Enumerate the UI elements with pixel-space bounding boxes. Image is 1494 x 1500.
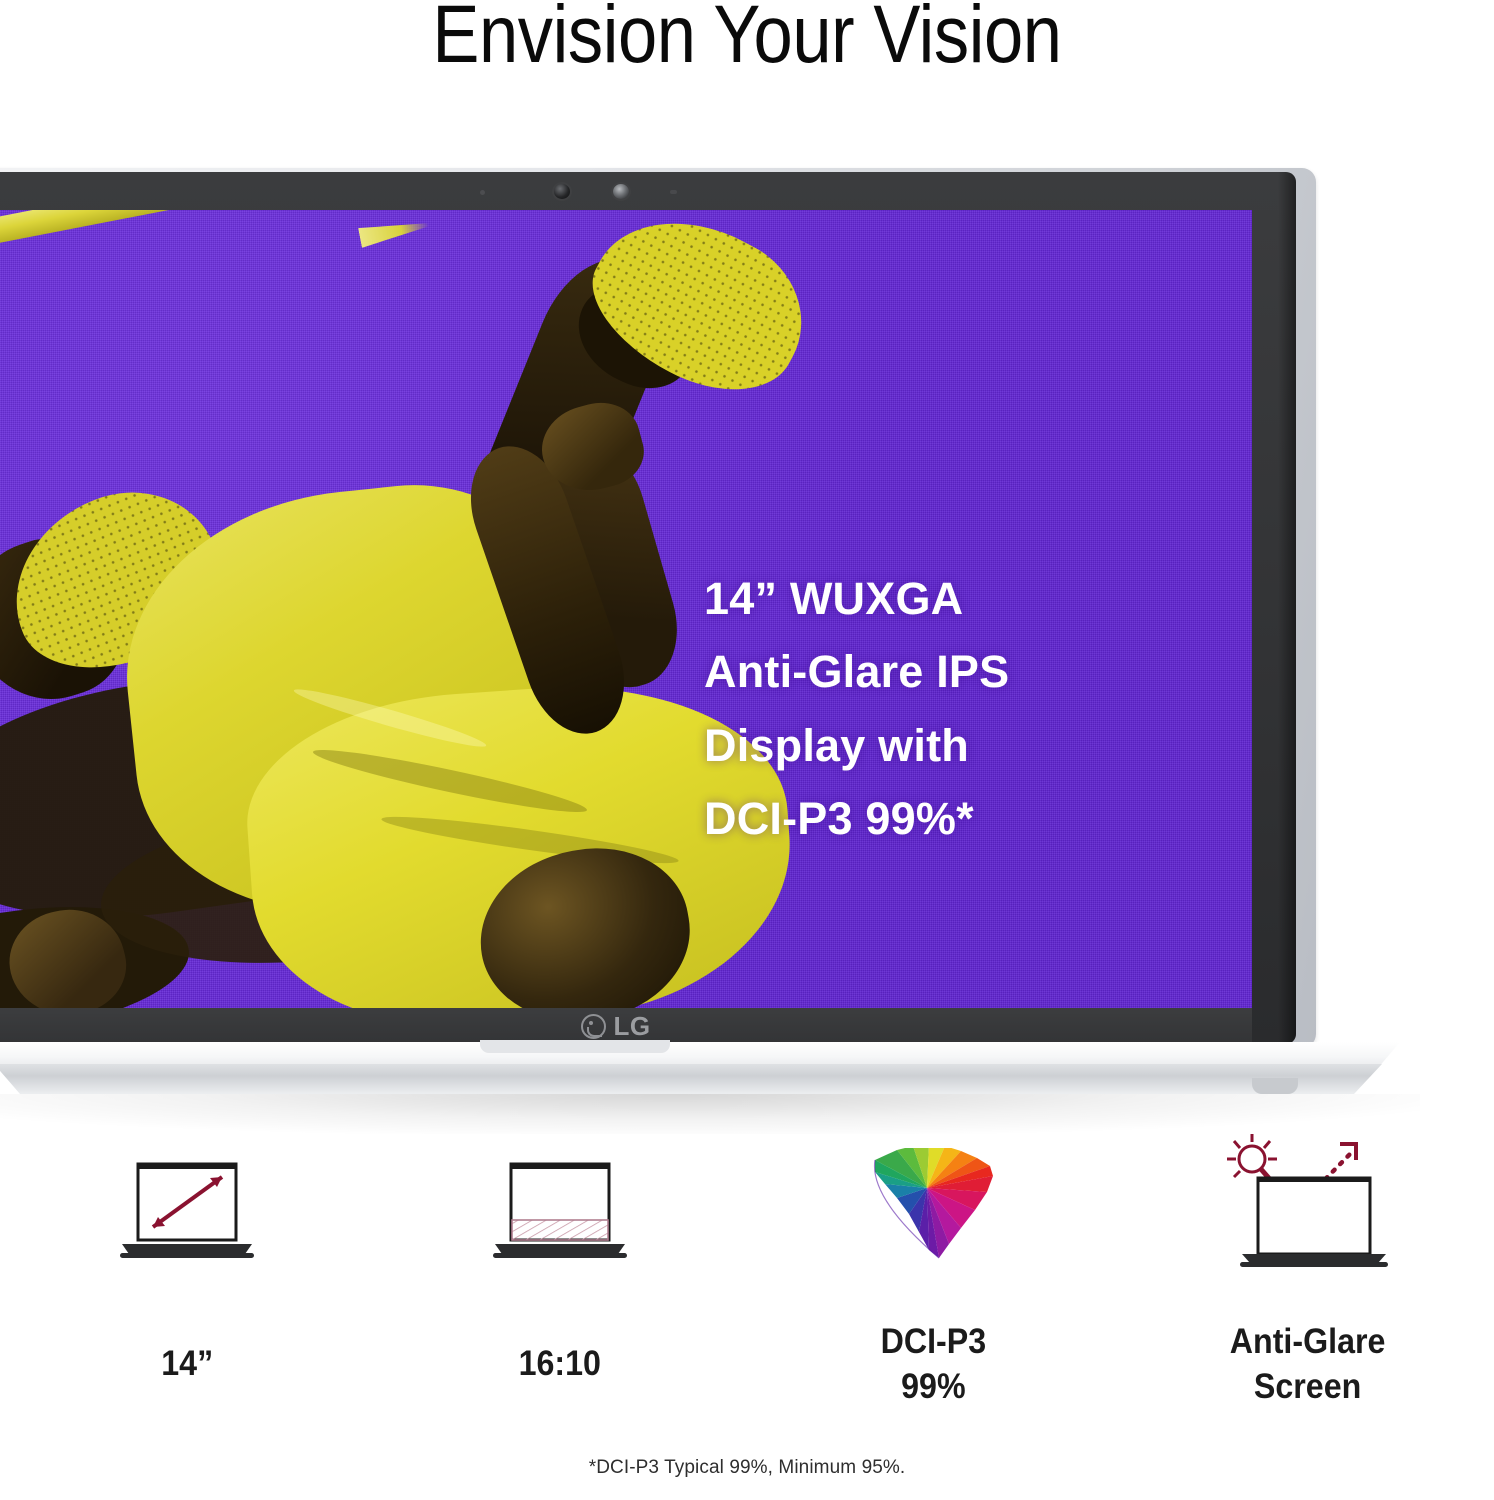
- page-title: Envision Your Vision: [105, 0, 1390, 78]
- lg-logo: LG: [581, 1011, 650, 1042]
- laptop-base-front-edge: [0, 1064, 1382, 1094]
- feature-label-line: DCI-P3: [881, 1320, 987, 1365]
- laptop-sun-reflection-icon: [1212, 1150, 1402, 1270]
- laptop-aspect-ratio-icon: [485, 1150, 635, 1270]
- feature-color-gamut: DCI-P3 99%: [747, 1150, 1121, 1410]
- feature-label-anti-glare: Anti-Glare Screen: [1229, 1320, 1385, 1410]
- laptop-base-notch: [480, 1040, 670, 1053]
- color-gamut-triangle-icon: [859, 1150, 1009, 1270]
- lg-wordmark: LG: [613, 1011, 650, 1042]
- footnote: *DCI-P3 Typical 99%, Minimum 95%.: [0, 1457, 1494, 1479]
- feature-label-aspect-ratio: 16:10: [519, 1342, 601, 1387]
- laptop-base: [0, 1042, 1400, 1098]
- ir-sensor-icon: [613, 184, 629, 199]
- laptop-bezel: 14” WUXGA Anti-Glare IPS Display with DC…: [0, 172, 1296, 1044]
- feature-anti-glare: Anti-Glare Screen: [1121, 1150, 1494, 1410]
- bottom-bezel: LG: [0, 1008, 1252, 1044]
- feature-label-screen-size: 14”: [161, 1342, 213, 1387]
- feature-label-line: 16:10: [519, 1342, 601, 1387]
- laptop-drop-shadow: [0, 1094, 1420, 1134]
- feature-label-line: Screen: [1229, 1365, 1385, 1410]
- color-gamut-triangle-icon-svg: [859, 1148, 1009, 1270]
- overlay-line-4: DCI-P3 99%*: [704, 782, 1174, 855]
- product-feature-page: Envision Your Vision: [0, 0, 1494, 1500]
- feature-label-line: 14”: [161, 1342, 213, 1387]
- feature-label-color-gamut: DCI-P3 99%: [881, 1320, 987, 1410]
- microphone-dot-icon: [480, 190, 485, 195]
- overlay-line-2: Anti-Glare IPS: [704, 635, 1174, 708]
- camera-lens-icon: [554, 184, 570, 199]
- screen-overlay-text: 14” WUXGA Anti-Glare IPS Display with DC…: [704, 562, 1174, 855]
- feature-label-line: Anti-Glare: [1229, 1320, 1385, 1365]
- overlay-line-3: Display with: [704, 709, 1174, 782]
- feature-label-line: 99%: [881, 1365, 987, 1410]
- feature-highlights-row: 14”: [0, 1150, 1494, 1410]
- laptop-diagonal-icon-svg: [112, 1158, 262, 1270]
- bezel-shading: [1278, 172, 1296, 1044]
- feature-aspect-ratio: 16:10: [374, 1150, 748, 1410]
- webcam-bezel-strip: [0, 172, 1252, 210]
- laptop-product-image: 14” WUXGA Anti-Glare IPS Display with DC…: [0, 168, 1316, 1048]
- lg-face-mark-icon: [581, 1014, 606, 1039]
- laptop-diagonal-icon: [112, 1150, 262, 1270]
- status-led-icon: [670, 190, 677, 194]
- laptop-aspect-ratio-icon-svg: [485, 1158, 635, 1270]
- laptop-sun-reflection-icon-svg: [1212, 1130, 1402, 1270]
- feature-screen-size: 14”: [0, 1150, 374, 1410]
- laptop-screen: 14” WUXGA Anti-Glare IPS Display with DC…: [0, 210, 1252, 1008]
- laptop-base-foot: [1252, 1078, 1298, 1094]
- overlay-line-1: 14” WUXGA: [704, 562, 1174, 635]
